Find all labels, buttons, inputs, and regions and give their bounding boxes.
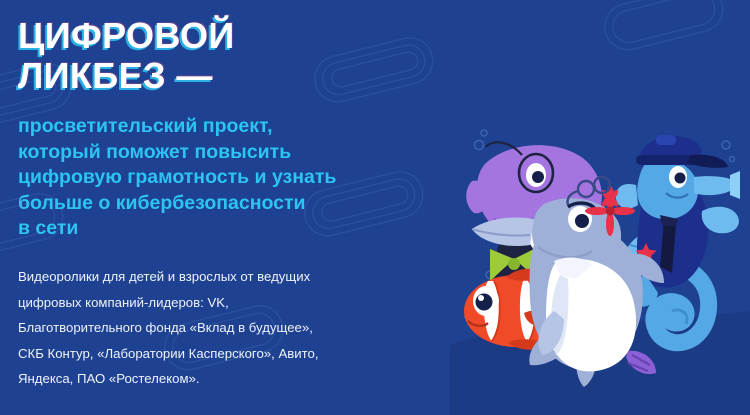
underwater-characters-illustration [450, 115, 750, 415]
page-title: ЦИФРОВОЙ ЛИКБЕЗ — [18, 16, 235, 96]
hero-banner: ЦИФРОВОЙ ЛИКБЕЗ — просветительский проек… [0, 0, 750, 415]
hero-text-column: ЦИФРОВОЙ ЛИКБЕЗ — просветительский проек… [18, 0, 488, 415]
hero-subheadline: просветительский проект, который поможет… [18, 114, 418, 242]
hero-description: Видеоролики для детей и взрослых от веду… [18, 264, 438, 392]
